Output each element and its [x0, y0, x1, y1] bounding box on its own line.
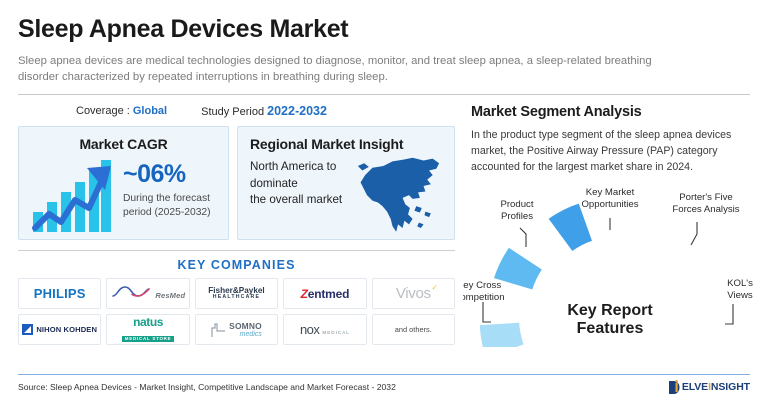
north-america-map-icon	[352, 155, 444, 239]
vivos-wordmark: Vivos	[396, 285, 431, 302]
nihon-kohden-wordmark: NIHON KOHDEN	[36, 325, 97, 334]
natus-sub: MEDICAL STORE	[122, 336, 175, 342]
label-product-profiles-line2: Profiles	[501, 211, 533, 222]
key-report-features-line1: Key Report	[567, 302, 653, 319]
somnomedics-wordmark: SOMNO	[229, 321, 262, 331]
logo-fisher-paykel: Fisher&Paykel HEALTHCARE	[195, 278, 278, 309]
regional-market-insight-card: Regional Market Insight North America to…	[237, 126, 455, 240]
vivos-tick-icon: ✓	[431, 283, 437, 292]
natus-wordmark: natus	[122, 316, 175, 328]
label-key-cross-competition-line2: Competition	[463, 292, 505, 303]
connector-key-cross-competition	[483, 302, 491, 322]
info-cards: Market CAGR ~06%	[18, 126, 455, 240]
connector-porters-five	[691, 222, 697, 245]
coverage-item: Coverage : Global	[76, 105, 167, 117]
philips-wordmark: PHILIPS	[34, 286, 86, 301]
left-column: Coverage : Global Study Period 2022-2032…	[18, 95, 455, 347]
logo-somnomedics: SOMNO medics	[195, 314, 278, 345]
idea-gears-icon	[594, 268, 609, 288]
source-text: Source: Sleep Apnea Devices - Market Ins…	[18, 382, 396, 392]
coverage-strip: Coverage : Global Study Period 2022-2032	[18, 95, 455, 126]
brand-nsight: NSIGHT	[711, 381, 750, 393]
delveinsight-mark-icon	[668, 380, 681, 395]
key-companies-logo-grid: PHILIPS ResMed Fisher&Paykel HEALTHCA	[18, 278, 455, 345]
coverage-value: Global	[133, 105, 167, 117]
label-kols-views-line2: Views	[727, 290, 753, 301]
somnomedics-sub: medics	[229, 331, 262, 338]
regional-heading: Regional Market Insight	[250, 136, 444, 152]
market-cagr-card: Market CAGR ~06%	[18, 126, 229, 240]
label-product-profiles-line1: Product	[500, 199, 533, 210]
regional-line3: the overall market	[250, 192, 350, 208]
label-key-market-opportunities-line1: Key Market	[586, 187, 635, 198]
connector-kols-views	[725, 304, 733, 324]
page-title: Sleep Apnea Devices Market	[18, 16, 750, 44]
segment-text: In the product type segment of the sleep…	[471, 128, 752, 176]
study-period-value: 2022-2032	[267, 104, 327, 118]
podium-icon	[519, 297, 537, 321]
regional-line2: dominate	[250, 176, 350, 192]
logo-and-others: and others.	[372, 314, 455, 345]
key-companies-title: KEY COMPANIES	[18, 258, 455, 272]
nox-sub: MEDICAL	[322, 330, 349, 335]
logo-nox-medical: nox MEDICAL	[283, 314, 366, 345]
cagr-note-line2: period (2025-2032)	[123, 206, 211, 220]
and-others-label: and others.	[395, 325, 432, 334]
key-report-features-line2: Features	[577, 320, 644, 337]
segment-title: Market Segment Analysis	[471, 104, 752, 120]
document-search-icon	[547, 277, 560, 295]
nox-wordmark: nox	[300, 322, 319, 337]
study-period-label: Study Period	[201, 106, 264, 118]
market-segment-analysis-panel: Market Segment Analysis In the product t…	[463, 95, 758, 176]
zentmed-mark-icon: Z	[301, 287, 308, 301]
logo-zentmed: Zentmed	[283, 278, 366, 309]
body: Coverage : Global Study Period 2022-2032…	[0, 95, 768, 347]
somnomedics-signal-icon	[211, 322, 226, 338]
cagr-note-line1: During the forecast	[123, 192, 211, 206]
label-key-market-opportunities-line2: Opportunities	[581, 199, 638, 210]
footer-divider	[18, 374, 750, 375]
logo-nihon-kohden: NIHON KOHDEN	[18, 314, 101, 345]
zentmed-wordmark: entmed	[308, 287, 349, 301]
key-report-features-diagram: Key Cross Competition Product Profiles K…	[463, 182, 758, 347]
label-porters-five-line1: Porter's Five	[679, 192, 733, 203]
connector-product-profiles	[520, 228, 526, 247]
logo-vivos: Vivos✓	[372, 278, 455, 309]
nihon-kohden-mark-icon	[22, 324, 33, 335]
footer: Source: Sleep Apnea Devices - Market Ins…	[18, 376, 750, 398]
label-kols-views-line1: KOL's	[727, 278, 753, 289]
resmed-wordmark: ResMed	[155, 291, 185, 300]
cagr-growth-chart-icon	[31, 156, 117, 232]
logo-natus: natus MEDICAL STORE	[106, 314, 189, 345]
logo-philips: PHILIPS	[18, 278, 101, 309]
logo-resmed: ResMed	[106, 278, 189, 309]
key-companies-divider	[18, 250, 455, 251]
fisher-paykel-sub: HEALTHCARE	[208, 295, 264, 300]
petal-key-market-opportunities[interactable]	[465, 302, 534, 347]
market-cagr-heading: Market CAGR	[29, 136, 218, 152]
regional-line1: North America to	[250, 159, 350, 175]
label-key-cross-competition-line1: Key Cross	[463, 280, 501, 291]
label-porters-five-line2: Forces Analysis	[672, 204, 739, 215]
chart-magnifier-icon	[645, 281, 659, 295]
header: Sleep Apnea Devices Market Sleep apnea d…	[0, 0, 768, 85]
resmed-wave-icon	[111, 285, 151, 298]
right-column: Market Segment Analysis In the product t…	[463, 95, 758, 347]
network-share-icon	[669, 311, 685, 326]
infographic-page: Sleep Apnea Devices Market Sleep apnea d…	[0, 0, 768, 403]
study-period-item: Study Period 2022-2032	[201, 104, 327, 118]
brand-elve: ELVE	[682, 381, 708, 393]
cagr-value: ~06%	[123, 162, 211, 187]
delveinsight-logo: ELVEINSIGHT	[668, 380, 750, 395]
coverage-label: Coverage :	[76, 105, 130, 117]
page-subtitle: Sleep apnea devices are medical technolo…	[18, 53, 658, 86]
